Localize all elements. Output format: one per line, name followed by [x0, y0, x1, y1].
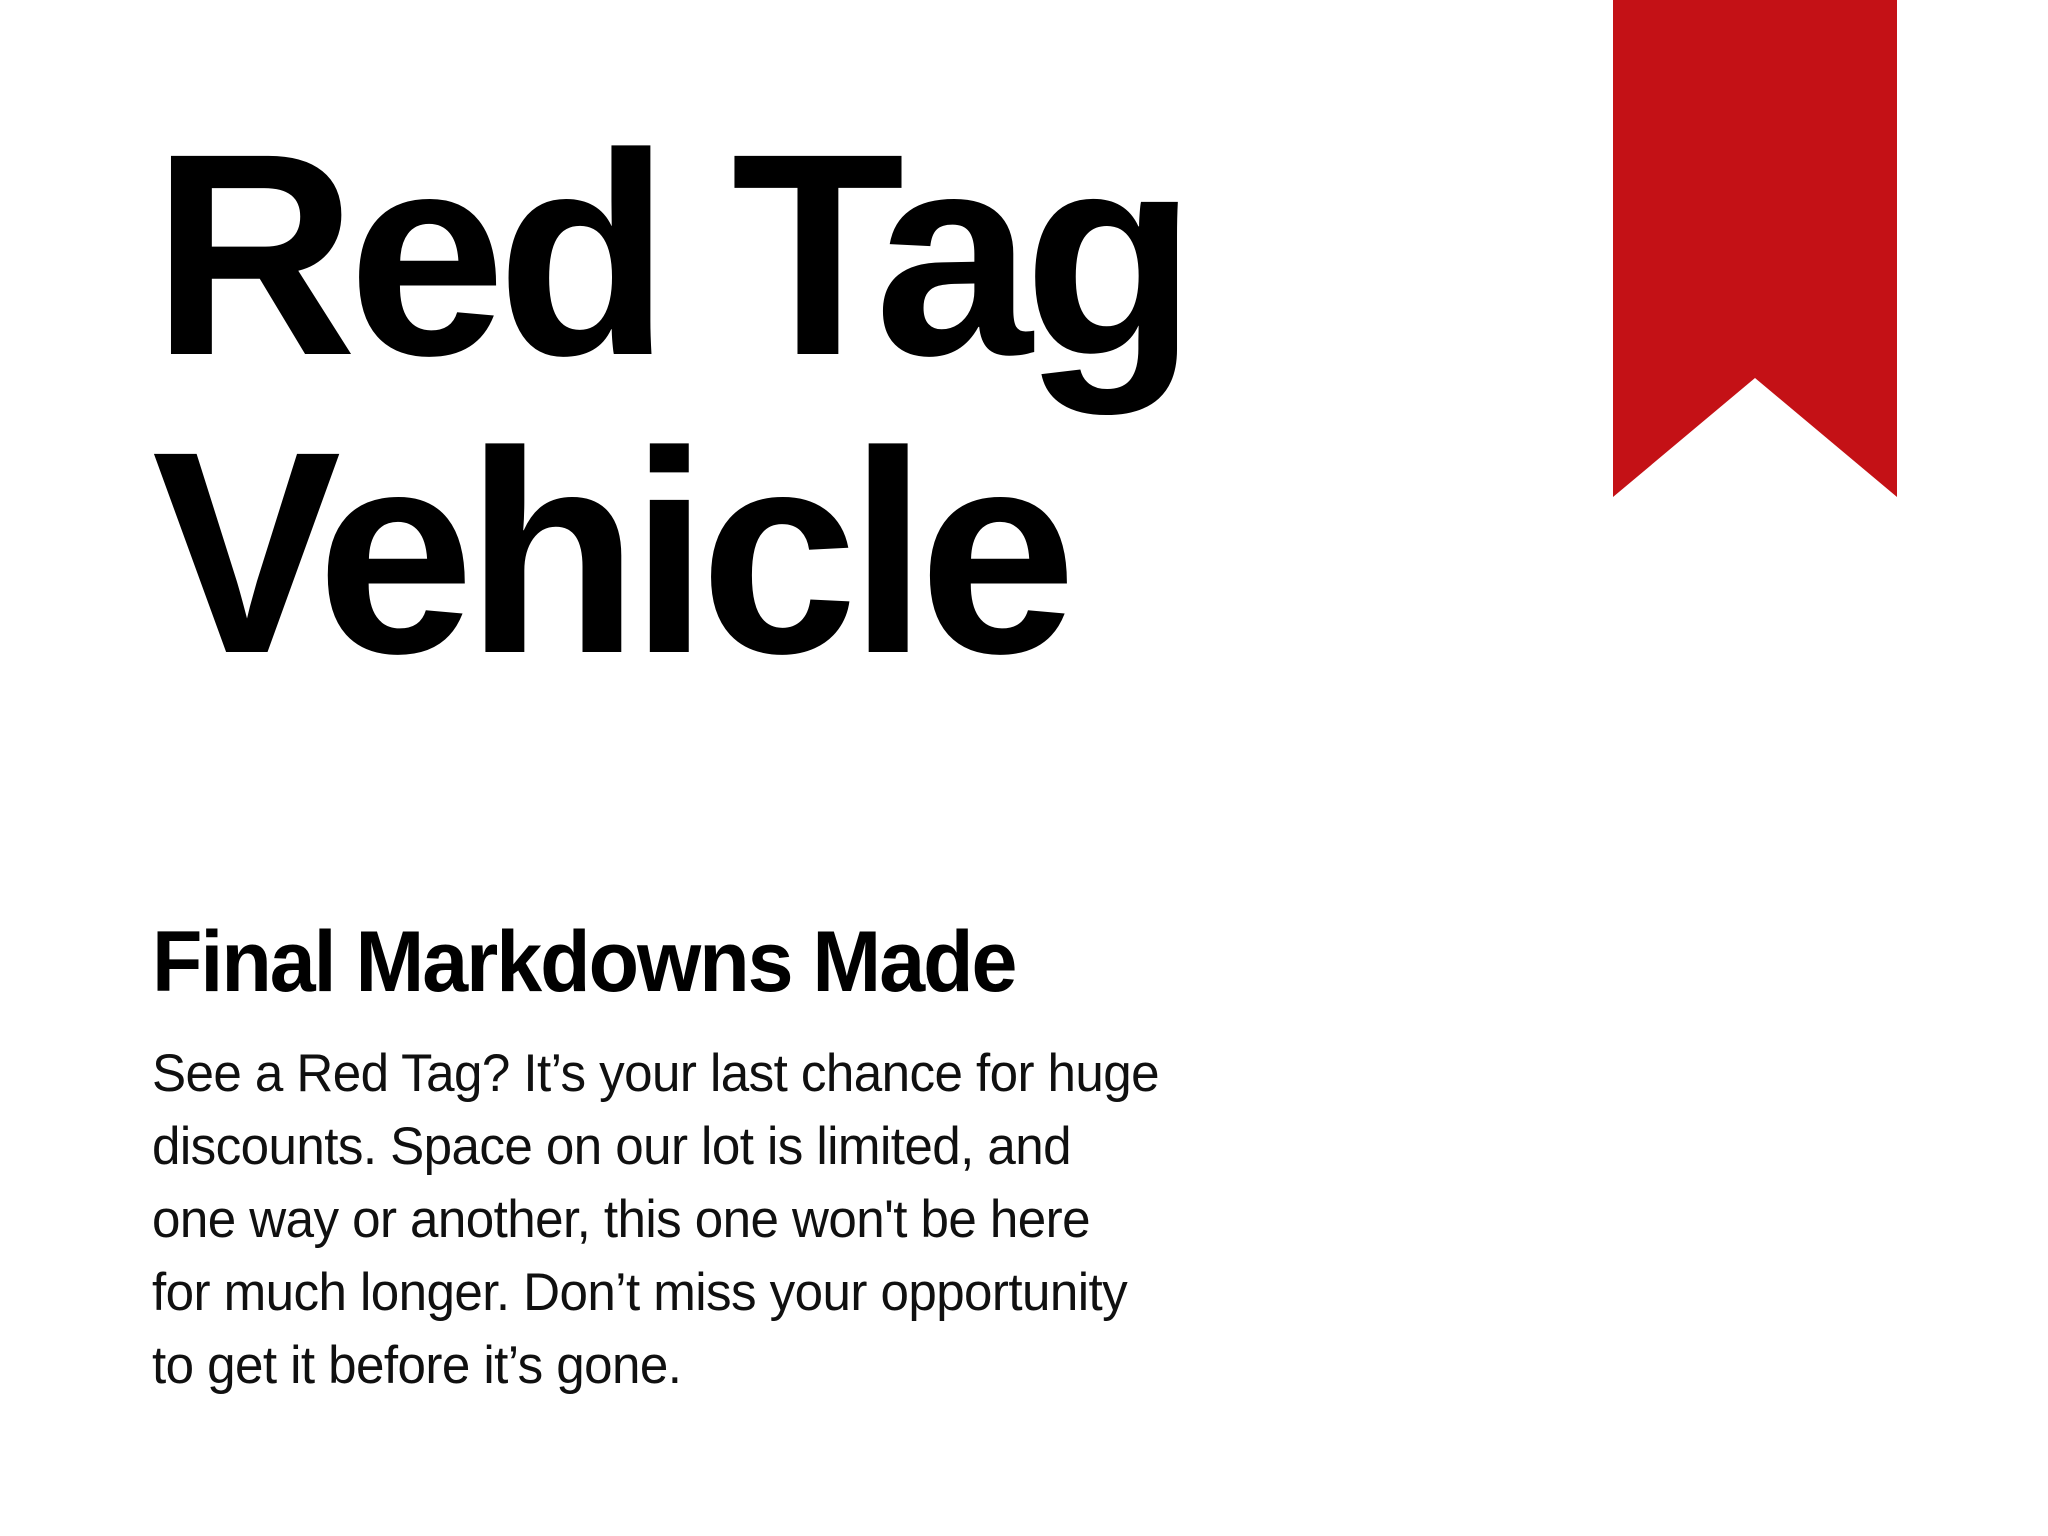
promo-card: Red Tag Vehicle Final Markdowns Made See…	[0, 0, 2048, 1536]
body-line-1: See a Red Tag? It’s your last chance for…	[152, 1037, 1223, 1110]
page-title-line-2: Vehicle	[152, 404, 1472, 702]
page-title: Red Tag Vehicle	[152, 106, 1492, 702]
body-line-4: for much longer. Don’t miss your opportu…	[152, 1256, 1223, 1329]
body-paragraph: See a Red Tag? It’s your last chance for…	[152, 1037, 1262, 1402]
subheading: Final Markdowns Made	[152, 914, 1015, 1010]
red-ribbon-bookmark-icon	[1613, 0, 1897, 497]
ribbon-polygon	[1613, 0, 1897, 497]
page-title-line-1: Red Tag	[152, 106, 1472, 404]
body-line-5: to get it before it’s gone.	[152, 1329, 1223, 1402]
body-line-3: one way or another, this one won't be he…	[152, 1183, 1223, 1256]
body-line-2: discounts. Space on our lot is limited, …	[152, 1110, 1223, 1183]
ribbon-shape-svg	[1613, 0, 1897, 497]
